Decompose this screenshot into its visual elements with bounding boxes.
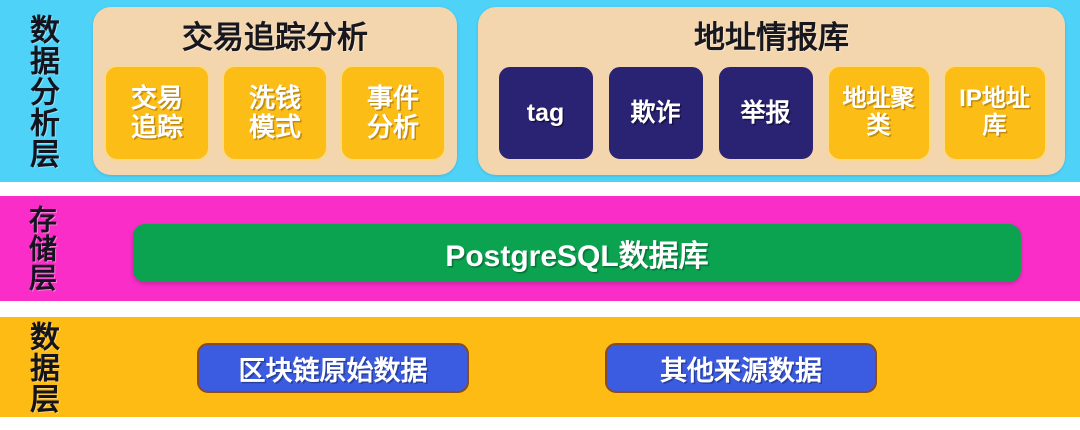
layer-label-analysis: 数据分析层 <box>10 0 72 182</box>
layer-analysis: 数据分析层 交易追踪分析 交易 追踪 洗钱 模式 事件 分析 地址情报库 tag… <box>0 0 1080 182</box>
analysis-cards-row: 交易追踪分析 交易 追踪 洗钱 模式 事件 分析 地址情报库 tag 欺诈 举报… <box>93 7 1065 175</box>
chip-money-laundering-pattern[interactable]: 洗钱 模式 <box>222 65 328 161</box>
layer-storage: 存储层 PostgreSQL数据库 <box>0 196 1080 301</box>
source-blockchain-raw-data[interactable]: 区块链原始数据 <box>197 343 469 393</box>
chip-tag[interactable]: tag <box>497 65 595 161</box>
source-other-origin-data[interactable]: 其他来源数据 <box>605 343 877 393</box>
chip-event-analysis[interactable]: 事件 分析 <box>340 65 446 161</box>
chip-transaction-trace[interactable]: 交易 追踪 <box>104 65 210 161</box>
data-source-row: 区块链原始数据 其他来源数据 <box>197 343 877 393</box>
layer-label-data: 数据层 <box>10 317 72 417</box>
chip-report[interactable]: 举报 <box>717 65 815 161</box>
chip-group-address-intelligence: tag 欺诈 举报 地址聚 类 IP地址 库 <box>489 65 1054 163</box>
card-title-transaction-tracking: 交易追踪分析 <box>182 17 368 59</box>
chip-address-clustering[interactable]: 地址聚 类 <box>827 65 931 161</box>
chip-group-transaction-tracking: 交易 追踪 洗钱 模式 事件 分析 <box>104 65 446 163</box>
layer-label-storage: 存储层 <box>10 196 72 301</box>
layer-data: 数据层 区块链原始数据 其他来源数据 <box>0 317 1080 417</box>
card-address-intelligence[interactable]: 地址情报库 tag 欺诈 举报 地址聚 类 IP地址 库 <box>478 7 1065 175</box>
architecture-diagram: 数据分析层 交易追踪分析 交易 追踪 洗钱 模式 事件 分析 地址情报库 tag… <box>0 0 1080 430</box>
card-title-address-intelligence: 地址情报库 <box>694 17 849 59</box>
database-postgresql[interactable]: PostgreSQL数据库 <box>133 224 1021 282</box>
chip-ip-address-library[interactable]: IP地址 库 <box>943 65 1047 161</box>
card-transaction-tracking[interactable]: 交易追踪分析 交易 追踪 洗钱 模式 事件 分析 <box>93 7 457 175</box>
chip-fraud[interactable]: 欺诈 <box>607 65 705 161</box>
